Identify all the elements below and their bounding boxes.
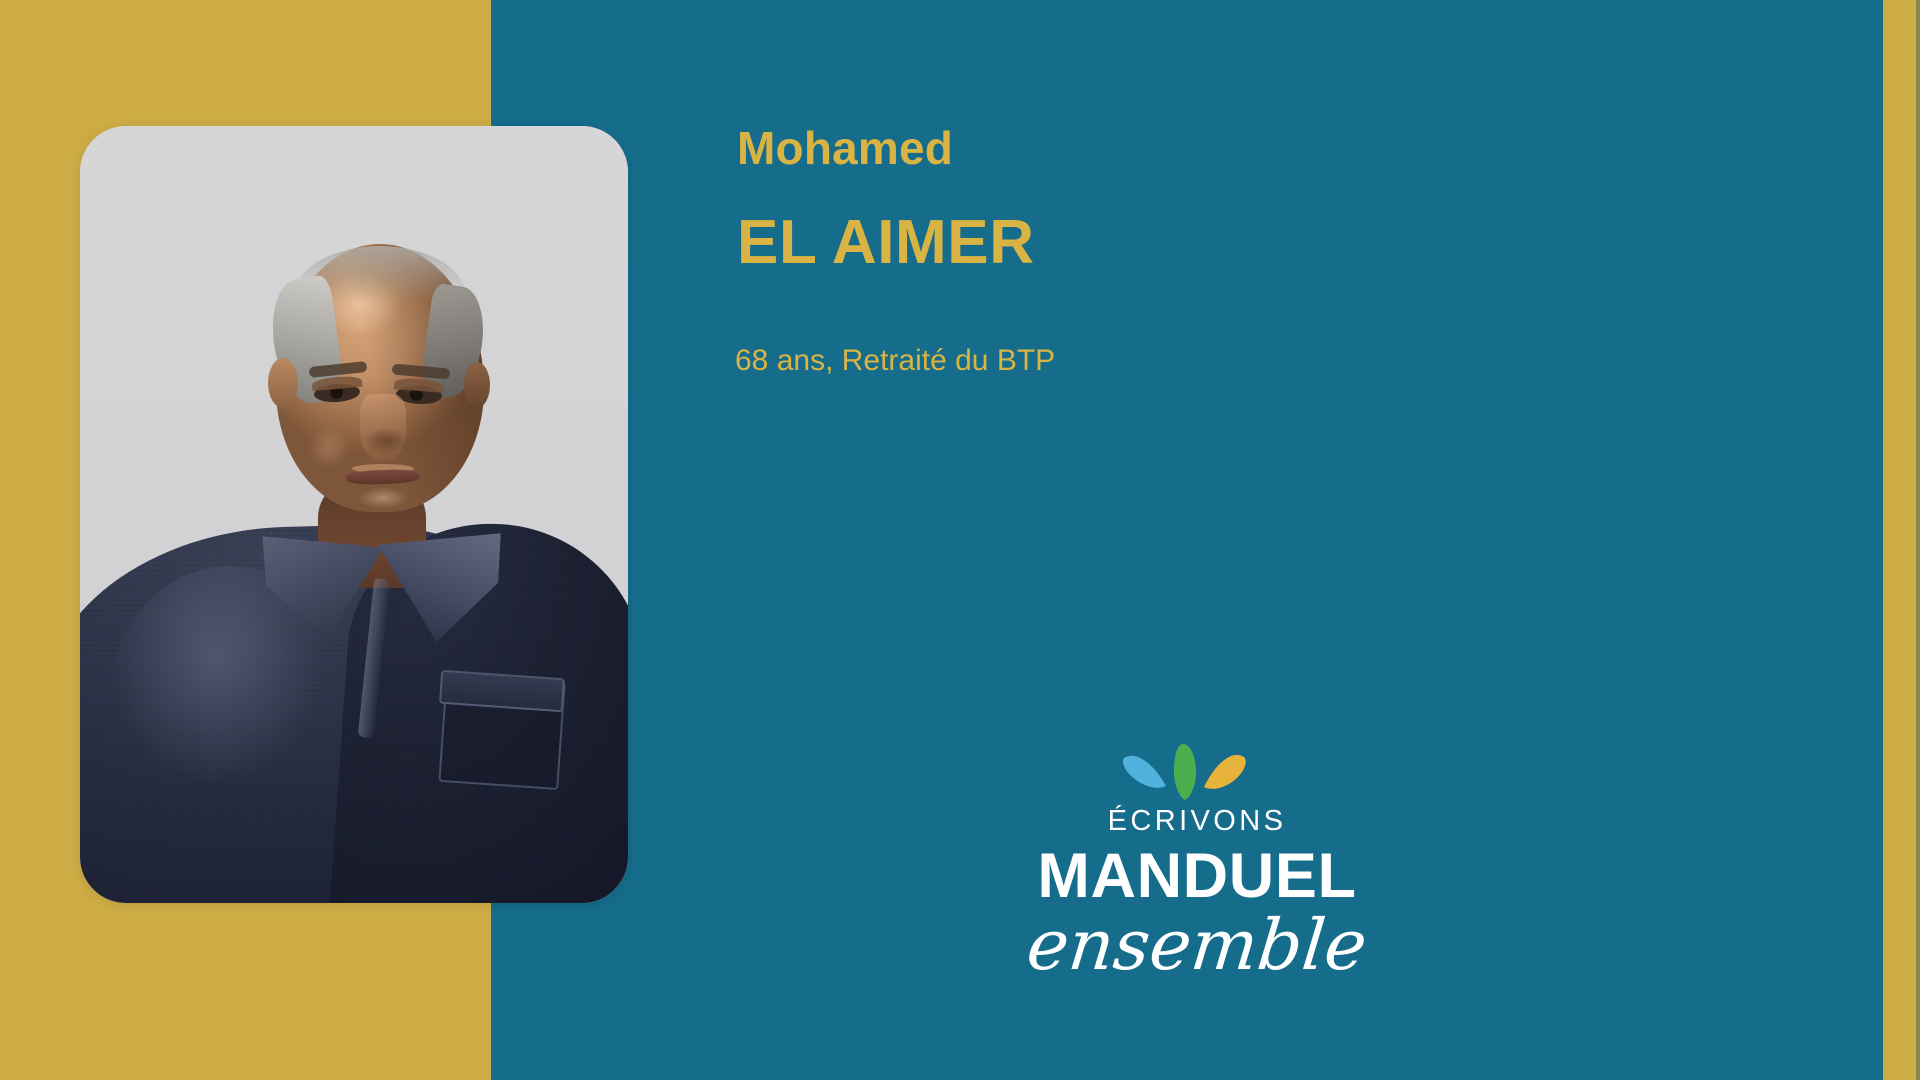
logo-petals-icon [1120,742,1250,804]
portrait-person-illustration [80,126,628,903]
candidate-last-name: EL AIMER [737,212,1035,274]
candidate-profile-slide: Mohamed EL AIMER 68 ans, Retraité du BTP… [0,0,1920,1080]
logo-eyebrow-text: ÉCRIVONS [1012,805,1382,838]
campaign-logo: ÉCRIVONS MANDUEL ensemble [1012,742,1382,992]
logo-wordmark: MANDUEL [1012,845,1382,908]
background-gold-right-bar [1883,0,1920,1080]
chin-highlight [348,486,418,516]
candidate-role: 68 ans, Retraité du BTP [735,346,1055,376]
cheek-highlight [298,418,360,478]
nose-shadow [352,426,414,462]
portrait-photo-card [80,126,628,903]
ear-left [268,358,298,408]
background-edge-sliver [1916,0,1920,1080]
logo-script-text: ensemble [1008,910,1385,980]
candidate-first-name: Mohamed [737,125,953,171]
ear-right [464,362,490,408]
